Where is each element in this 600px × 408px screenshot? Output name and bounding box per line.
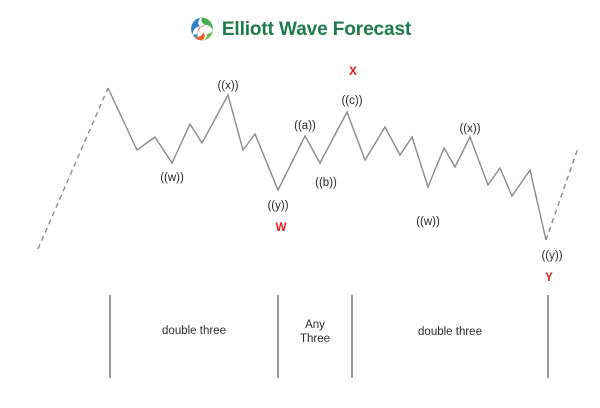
wave-label-w3-Y: Y xyxy=(545,272,553,285)
bracket-label-line: double three xyxy=(162,325,226,338)
wave-label-w1-ww: ((w)) xyxy=(160,172,184,185)
lead-in-dashed-line xyxy=(38,88,108,249)
wave-label-w2-cc: ((c)) xyxy=(341,95,362,108)
wave-label-w3-ww: ((w)) xyxy=(416,216,440,229)
wave-label-w2-bb: ((b)) xyxy=(315,177,337,190)
bracket-label-line: Any xyxy=(300,318,330,332)
main-wave-polyline xyxy=(108,88,546,240)
wave-label-w3-xx: ((x)) xyxy=(459,123,480,136)
wave-label-w1-xx: ((x)) xyxy=(217,80,238,93)
wave-chart-svg xyxy=(0,0,600,408)
wave-label-w1-yy: ((y)) xyxy=(267,200,288,213)
bracket-label-line: Three xyxy=(300,332,330,346)
lead-out-dashed-line xyxy=(546,148,578,240)
bracket-label-line: double three xyxy=(418,326,482,339)
bracket-label-bracket-double-three-left: double three xyxy=(162,325,226,338)
wave-lines xyxy=(38,88,578,249)
bracket-label-bracket-double-three-right: double three xyxy=(418,326,482,339)
wave-label-w1-W: W xyxy=(276,222,287,235)
bracket-label-bracket-any-three: AnyThree xyxy=(300,318,330,347)
wave-label-w3-yy: ((y)) xyxy=(541,250,562,263)
wave-label-w2-X: X xyxy=(349,66,357,79)
elliott-wave-diagram-page: Elliott Wave Forecast ((w))((x))((y))W((… xyxy=(0,0,600,408)
wave-label-w2-aa: ((a)) xyxy=(294,120,316,133)
